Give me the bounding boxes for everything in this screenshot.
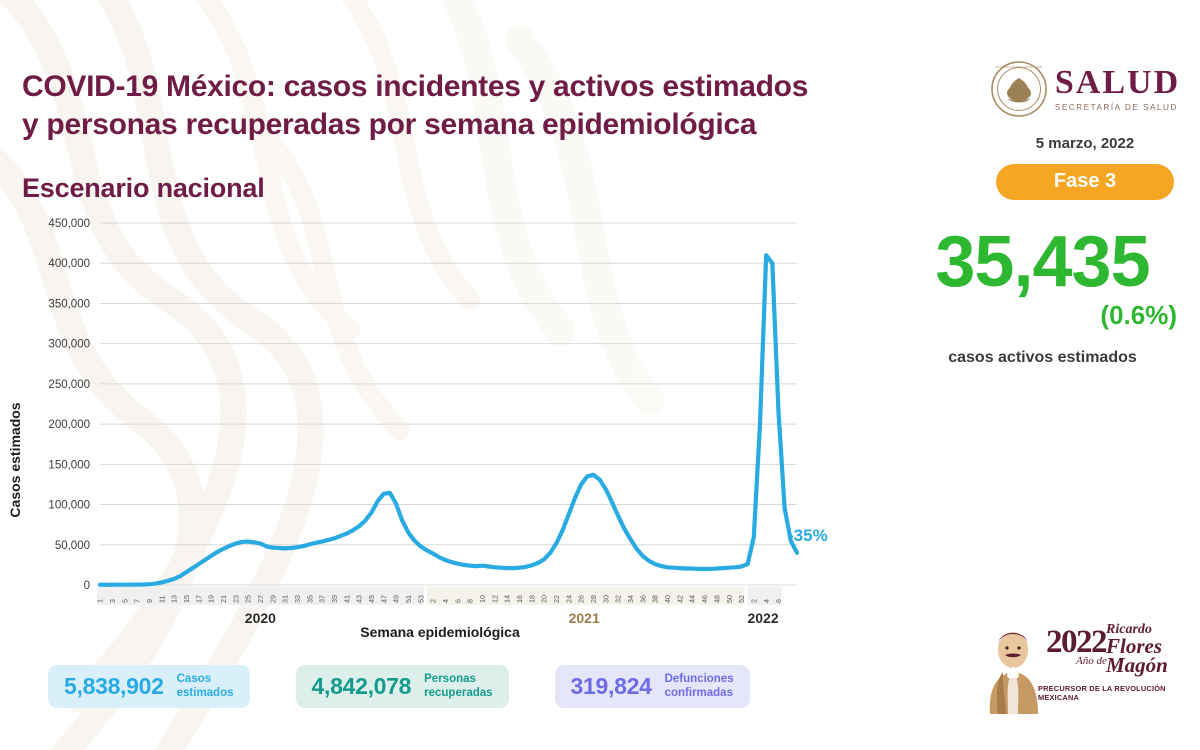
x-axis-week-label: 6 <box>774 599 783 603</box>
magon-footer-text: PRECURSOR DE LA REVOLUCIÓN MEXICANA <box>1038 684 1193 702</box>
magon-name-line3: Magón <box>1106 656 1168 675</box>
x-axis-week-label: 28 <box>589 595 598 603</box>
x-axis-week-label: 9 <box>145 599 154 603</box>
x-axis-week-label: 31 <box>281 595 290 603</box>
title-block: COVID-19 México: casos incidentes y acti… <box>22 68 922 204</box>
x-axis-week-label: 49 <box>392 595 401 603</box>
y-axis-tick-label: 400,000 <box>48 258 90 270</box>
x-axis-week-label: 30 <box>601 595 610 603</box>
x-axis-week-label: 4 <box>762 599 771 603</box>
page-subtitle: Escenario nacional <box>22 173 922 204</box>
x-axis-week-label: 4 <box>441 599 450 603</box>
trend-annotation: -35% <box>788 526 828 545</box>
kpi-caption: casos activos estimados <box>900 349 1185 367</box>
salud-wordmark: SALUD <box>1055 66 1180 100</box>
x-axis-week-label: 20 <box>540 595 549 603</box>
x-axis-week-label: 2 <box>749 599 758 603</box>
chip-casos-value: 5,838,902 <box>64 673 164 700</box>
x-axis-week-label: 16 <box>515 595 524 603</box>
chip-recuperadas-label-line1: Personas <box>424 673 476 685</box>
chip-personas-recuperadas: 4,842,078 Personas recuperadas <box>296 665 509 708</box>
x-axis-week-label: 38 <box>651 595 660 603</box>
x-axis-week-label: 24 <box>564 595 573 603</box>
chart-svg: 050,000100,000150,000200,000250,000300,0… <box>0 210 880 660</box>
chip-casos-label-line2: estimados <box>177 687 234 699</box>
y-axis-tick-label: 300,000 <box>48 339 90 351</box>
x-axis-week-label: 14 <box>503 595 512 603</box>
x-axis-week-label: 17 <box>194 595 203 603</box>
page-title-line-1: COVID-19 México: casos incidentes y acti… <box>22 68 922 106</box>
x-axis-week-label: 29 <box>268 595 277 603</box>
magon-year-block: 2022 Año de <box>1046 628 1107 667</box>
svg-text:ESTADOS UNIDOS MEXICANOS: ESTADOS UNIDOS MEXICANOS <box>996 65 1043 69</box>
y-axis-tick-label: 0 <box>84 580 90 592</box>
magon-year: 2022 <box>1046 628 1107 657</box>
cases-line-series <box>100 255 797 585</box>
x-axis-week-label: 47 <box>379 595 388 603</box>
kpi-value: 35,435 <box>900 228 1185 296</box>
dashboard-page: COVID-19 México: casos incidentes y acti… <box>0 0 1200 750</box>
salud-logo: ESTADOS UNIDOS MEXICANOS SALUD SECRETARÍ… <box>985 60 1185 118</box>
x-axis-week-label: 52 <box>737 595 746 603</box>
x-axis-week-label: 6 <box>453 599 462 603</box>
chip-defunciones-confirmadas: 319,824 Defunciones confirmadas <box>555 665 750 708</box>
x-axis-week-label: 44 <box>688 595 697 603</box>
y-axis-tick-label: 100,000 <box>48 500 90 512</box>
x-axis-week-label: 33 <box>293 595 302 603</box>
kpi-percent: (0.6%) <box>900 300 1185 331</box>
x-axis-week-label: 1 <box>96 599 105 603</box>
x-axis-week-label: 21 <box>219 595 228 603</box>
fase-badge: Fase 3 <box>996 164 1174 200</box>
x-axis-week-label: 40 <box>663 595 672 603</box>
x-axis-year-label: 2021 <box>569 610 600 626</box>
salud-secretaria-label: SECRETARÍA DE SALUD <box>1055 103 1180 112</box>
y-axis-tick-label: 250,000 <box>48 379 90 391</box>
chip-defunciones-label-line1: Defunciones <box>665 673 734 685</box>
x-axis-week-label: 48 <box>712 595 721 603</box>
page-title: COVID-19 México: casos incidentes y acti… <box>22 68 922 145</box>
chip-defunciones-value: 319,824 <box>571 673 652 700</box>
x-axis-week-label: 34 <box>626 595 635 603</box>
salud-header-block: ESTADOS UNIDOS MEXICANOS SALUD SECRETARÍ… <box>985 60 1185 200</box>
x-axis-week-label: 42 <box>675 595 684 603</box>
x-axis-week-label: 5 <box>120 599 129 603</box>
chip-casos-label: Casos estimados <box>177 673 234 700</box>
chip-recuperadas-value: 4,842,078 <box>312 673 412 700</box>
active-cases-kpi: 35,435 (0.6%) casos activos estimados <box>900 228 1185 367</box>
x-axis-week-label: 15 <box>182 595 191 603</box>
x-axis-week-label: 32 <box>614 595 623 603</box>
x-axis-week-label: 26 <box>577 595 586 603</box>
x-axis-week-label: 19 <box>207 595 216 603</box>
x-axis-week-label: 27 <box>256 595 265 603</box>
y-axis-tick-label: 350,000 <box>48 298 90 310</box>
x-axis-week-label: 51 <box>404 595 413 603</box>
x-axis-week-label: 22 <box>552 595 561 603</box>
y-axis-tick-label: 150,000 <box>48 459 90 471</box>
x-axis-week-label: 45 <box>367 595 376 603</box>
epidemic-curve-chart: 050,000100,000150,000200,000250,000300,0… <box>0 210 880 660</box>
x-axis-week-label: 39 <box>330 595 339 603</box>
x-axis-week-label: 35 <box>305 595 314 603</box>
x-axis-week-label: 36 <box>638 595 647 603</box>
x-axis-week-label: 50 <box>725 595 734 603</box>
y-axis-title: Casos estimados <box>7 402 23 517</box>
ricardo-flores-magon-logo: 2022 Año de Ricardo Flores Magón PRECURS… <box>978 622 1193 734</box>
x-axis-year-label: 2022 <box>747 610 778 626</box>
chip-recuperadas-label-line2: recuperadas <box>424 687 492 699</box>
x-axis-week-label: 46 <box>700 595 709 603</box>
chip-defunciones-label-line2: confirmadas <box>665 687 733 699</box>
x-axis-week-label: 10 <box>478 595 487 603</box>
x-axis-week-label: 13 <box>170 595 179 603</box>
y-axis-tick-label: 450,000 <box>48 218 90 230</box>
x-axis-week-label: 8 <box>466 599 475 603</box>
magon-ano-de: Año de <box>1076 655 1107 667</box>
ricardo-flores-magon-portrait-icon <box>978 622 1048 717</box>
x-axis-week-label: 2 <box>429 599 438 603</box>
x-axis-week-label: 12 <box>490 595 499 603</box>
x-axis-week-label: 11 <box>157 596 166 603</box>
x-axis-week-label: 25 <box>244 595 253 603</box>
chip-casos-label-line1: Casos <box>177 673 212 685</box>
chip-recuperadas-label: Personas recuperadas <box>424 673 492 700</box>
x-axis-week-label: 18 <box>527 595 536 603</box>
x-axis-week-label: 43 <box>355 595 364 603</box>
x-axis-week-label: 41 <box>342 595 351 603</box>
y-axis-tick-label: 200,000 <box>48 419 90 431</box>
x-axis-week-label: 37 <box>318 595 327 603</box>
salud-wordmark-group: SALUD SECRETARÍA DE SALUD <box>1055 66 1180 112</box>
summary-stat-chips: 5,838,902 Casos estimados 4,842,078 Pers… <box>48 665 750 708</box>
page-title-line-2: y personas recuperadas por semana epidem… <box>22 106 922 144</box>
report-date: 5 marzo, 2022 <box>985 135 1185 152</box>
x-axis-week-label: 53 <box>416 595 425 603</box>
magon-name-block: Ricardo Flores Magón <box>1106 624 1168 676</box>
y-axis-tick-label: 50,000 <box>55 540 90 552</box>
x-axis-title: Semana epidemiológica <box>360 624 520 640</box>
x-axis-year-label: 2020 <box>245 610 276 626</box>
x-axis-week-label: 7 <box>133 599 142 603</box>
mexico-coat-of-arms-icon: ESTADOS UNIDOS MEXICANOS <box>990 60 1048 118</box>
chip-defunciones-label: Defunciones confirmadas <box>665 673 734 700</box>
chip-casos-estimados: 5,838,902 Casos estimados <box>48 665 250 708</box>
chart-y-axis-ticks: 050,000100,000150,000200,000250,000300,0… <box>48 218 90 592</box>
x-axis-week-label: 23 <box>231 595 240 603</box>
x-axis-week-label: 3 <box>108 599 117 603</box>
chart-gridlines <box>100 223 797 585</box>
